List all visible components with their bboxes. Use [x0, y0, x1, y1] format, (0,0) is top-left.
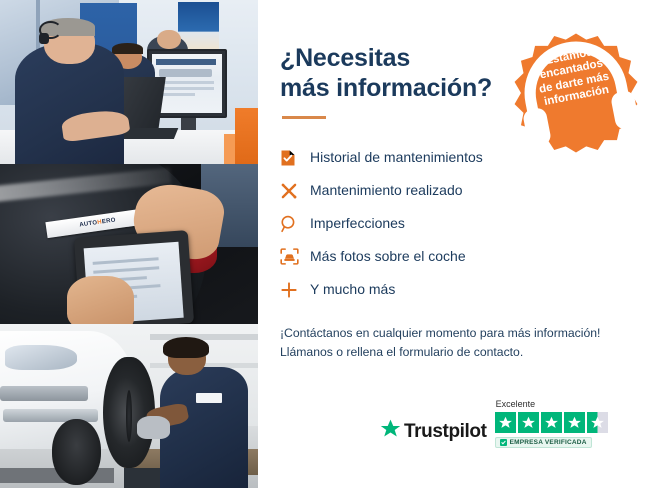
promo-card: AUTOHERO — [0, 0, 650, 488]
car-inspection-ruler-photo: AUTOHERO — [0, 164, 258, 324]
car-frame-icon — [280, 248, 310, 265]
headline-line-2: más información? — [280, 74, 492, 102]
feature-label: Historial de mantenimientos — [310, 149, 483, 166]
title-divider — [282, 116, 326, 119]
photo-column: AUTOHERO — [0, 0, 258, 488]
feature-list: Historial de mantenimientos Mantenimient… — [280, 141, 630, 306]
feature-item-imperfecciones[interactable]: Imperfecciones — [280, 207, 630, 240]
paragraph-line-2: Llámanos o rellena el formulario de cont… — [280, 343, 630, 362]
verified-label: EMPRESA VERIFICADA — [510, 439, 587, 446]
feature-label: Y mucho más — [310, 281, 395, 298]
plus-icon — [280, 281, 310, 299]
support-badge: Estamos encantados de darte más informac… — [512, 31, 640, 155]
paragraph-line-1: ¡Contáctanos en cualquier momento para m… — [280, 324, 630, 343]
verified-business-badge: EMPRESA VERIFICADA — [495, 437, 592, 448]
content-panel: ¿Necesitas más información? Estamos — [258, 0, 650, 488]
feature-item-mas[interactable]: Y mucho más — [280, 273, 630, 306]
feature-label: Imperfecciones — [310, 215, 405, 232]
trustpilot-rating-label: Excelente — [496, 399, 536, 409]
trustpilot-wordmark: Trustpilot — [404, 421, 487, 443]
feature-item-fotos[interactable]: Más fotos sobre el coche — [280, 240, 630, 273]
document-check-icon — [280, 149, 310, 167]
star-filled — [518, 412, 539, 433]
star-filled — [564, 412, 585, 433]
call-centre-agents-photo — [0, 0, 258, 164]
check-icon — [500, 439, 507, 446]
autohero-ruler-brand: AUTOHERO — [79, 218, 116, 229]
star-half — [587, 412, 608, 433]
trustpilot-stars — [495, 412, 608, 433]
feature-label: Mantenimiento realizado — [310, 182, 463, 199]
mechanic-wheel-photo — [0, 324, 258, 488]
tools-cross-icon — [280, 182, 310, 200]
trustpilot-widget[interactable]: Trustpilot Excelente — [280, 399, 650, 448]
feature-item-mantenimiento[interactable]: Mantenimiento realizado — [280, 174, 630, 207]
headline-line-1: ¿Necesitas — [280, 44, 410, 72]
feature-label: Más fotos sobre el coche — [310, 248, 466, 265]
star-filled — [541, 412, 562, 433]
trustpilot-logo: Trustpilot — [380, 419, 487, 448]
magnifier-icon — [280, 215, 310, 233]
contact-paragraph: ¡Contáctanos en cualquier momento para m… — [280, 324, 630, 361]
trustpilot-star-icon — [380, 419, 401, 444]
star-filled — [495, 412, 516, 433]
